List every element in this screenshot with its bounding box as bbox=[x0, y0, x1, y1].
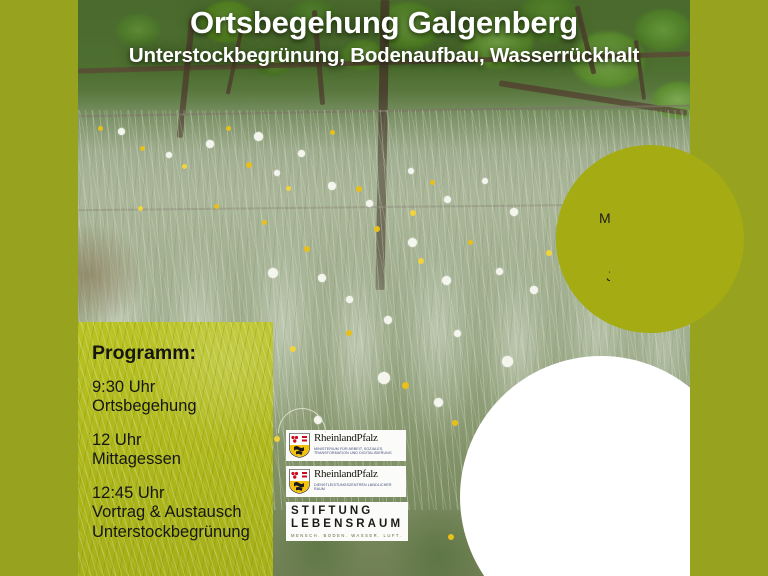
sponsor-logos: RheinlandPfalz Ministerium für Arbeit, S… bbox=[286, 430, 406, 541]
logo-subtitle: Dienstleistungszentren Ländlicher Raum bbox=[314, 483, 403, 493]
yellow-flower bbox=[356, 186, 362, 192]
white-flower bbox=[318, 274, 326, 282]
white-flower bbox=[254, 132, 263, 141]
yellow-flower bbox=[290, 346, 296, 352]
white-flower bbox=[366, 200, 373, 207]
yellow-flower bbox=[98, 126, 103, 131]
yellow-flower bbox=[304, 246, 310, 252]
yellow-flower bbox=[448, 534, 454, 540]
yellow-flower bbox=[262, 220, 267, 225]
white-flower bbox=[496, 268, 503, 275]
logo-word-rheinland: Rheinland bbox=[314, 468, 357, 480]
white-flower bbox=[384, 316, 392, 324]
logo-word-pfalz: Pfalz bbox=[357, 468, 378, 480]
programm-item-label: Ortsbegehung bbox=[92, 397, 273, 416]
yellow-flower bbox=[226, 126, 231, 131]
programm-item: 12 Uhr Mittagessen bbox=[92, 431, 273, 470]
yellow-flower bbox=[374, 226, 380, 232]
logo-text-block: RheinlandPfalz Dienstleistungszentren Lä… bbox=[314, 469, 403, 492]
programm-title: Programm: bbox=[92, 342, 273, 365]
white-flower bbox=[442, 276, 451, 285]
poster-title-block: Ortsbegehung Galgenberg Unterstockbegrün… bbox=[78, 6, 690, 68]
yellow-flower bbox=[274, 436, 280, 442]
logo-word-rheinland: Rheinland bbox=[314, 432, 357, 444]
bare-soil-patch bbox=[78, 215, 198, 335]
yellow-flower bbox=[138, 206, 143, 211]
programm-item: 9:30 Uhr Ortsbegehung bbox=[92, 378, 273, 417]
white-flower bbox=[166, 152, 172, 158]
stiftung-line-2: LEBENSRAUM bbox=[291, 518, 403, 531]
rheinland-pfalz-coat-of-arms-icon bbox=[289, 433, 310, 458]
programm-panel: Programm: 9:30 Uhr Ortsbegehung 12 Uhr M… bbox=[78, 322, 273, 576]
logo-word-pfalz: Pfalz bbox=[357, 432, 378, 444]
yellow-flower bbox=[546, 250, 552, 256]
white-flower bbox=[346, 296, 353, 303]
white-flower bbox=[206, 140, 214, 148]
white-flower bbox=[408, 238, 417, 247]
yellow-flower bbox=[182, 164, 187, 169]
rheinland-pfalz-coat-of-arms-icon bbox=[289, 469, 310, 494]
event-info-circle: Mittwoch, 11. Februar 2026 9:30- 14:30 U… bbox=[460, 356, 690, 576]
yellow-flower bbox=[402, 382, 409, 389]
programm-item-label: Unterstockbegrünung bbox=[92, 523, 273, 542]
yellow-flower bbox=[286, 186, 291, 191]
white-flower bbox=[434, 398, 443, 407]
yellow-flower bbox=[468, 240, 473, 245]
logo-rheinland-pfalz-ministerium: RheinlandPfalz Ministerium für Arbeit, S… bbox=[286, 430, 406, 461]
programm-item-label: Vortrag & Austausch bbox=[92, 503, 273, 522]
white-flower bbox=[454, 330, 461, 337]
programm-item-time: 12:45 Uhr bbox=[92, 484, 273, 503]
stiftung-tagline: MENSCH. BODEN. WASSER. LUFT. bbox=[291, 533, 403, 538]
yellow-flower bbox=[452, 420, 458, 426]
poster-canvas: Ortsbegehung Galgenberg Unterstockbegrün… bbox=[0, 0, 768, 576]
programm-item-time: 12 Uhr bbox=[92, 431, 273, 450]
programm-content: Programm: 9:30 Uhr Ortsbegehung 12 Uhr M… bbox=[78, 322, 273, 542]
white-flower bbox=[482, 178, 488, 184]
logo-subtitle: Ministerium für Arbeit, Soziales, Transf… bbox=[314, 447, 403, 457]
yellow-flower bbox=[430, 180, 435, 185]
yellow-flower bbox=[214, 204, 219, 209]
programm-item-label: Mittagessen bbox=[92, 450, 273, 469]
programm-item: 12:45 Uhr Vortrag & Austausch Unterstock… bbox=[92, 484, 273, 542]
yellow-flower bbox=[410, 210, 416, 216]
white-flower bbox=[408, 168, 414, 174]
white-flower bbox=[530, 286, 538, 294]
logo-wordmark: RheinlandPfalz bbox=[314, 433, 403, 444]
white-flower bbox=[268, 268, 278, 278]
white-flower bbox=[118, 128, 125, 135]
stiftung-line-1: STIFTUNG bbox=[291, 505, 403, 518]
logo-rheinland-pfalz-dlr: RheinlandPfalz Dienstleistungszentren Lä… bbox=[286, 466, 406, 497]
yellow-flower bbox=[330, 130, 335, 135]
white-flower bbox=[298, 150, 305, 157]
programm-item-time: 9:30 Uhr bbox=[92, 378, 273, 397]
yellow-flower bbox=[140, 146, 145, 151]
logo-stiftung-lebensraum: STIFTUNG LEBENSRAUM MENSCH. BODEN. WASSE… bbox=[286, 502, 408, 541]
logo-text-block: RheinlandPfalz Ministerium für Arbeit, S… bbox=[314, 433, 403, 456]
yellow-flower bbox=[418, 258, 424, 264]
white-flower bbox=[328, 182, 336, 190]
logo-wordmark: RheinlandPfalz bbox=[314, 469, 403, 480]
yellow-flower bbox=[346, 330, 352, 336]
white-flower bbox=[510, 208, 518, 216]
white-flower bbox=[444, 196, 451, 203]
yellow-flower bbox=[246, 162, 252, 168]
page-subtitle: Unterstockbegrünung, Bodenaufbau, Wasser… bbox=[78, 44, 690, 68]
page-title: Ortsbegehung Galgenberg bbox=[78, 6, 690, 40]
white-flower bbox=[274, 170, 280, 176]
white-flower bbox=[378, 372, 390, 384]
